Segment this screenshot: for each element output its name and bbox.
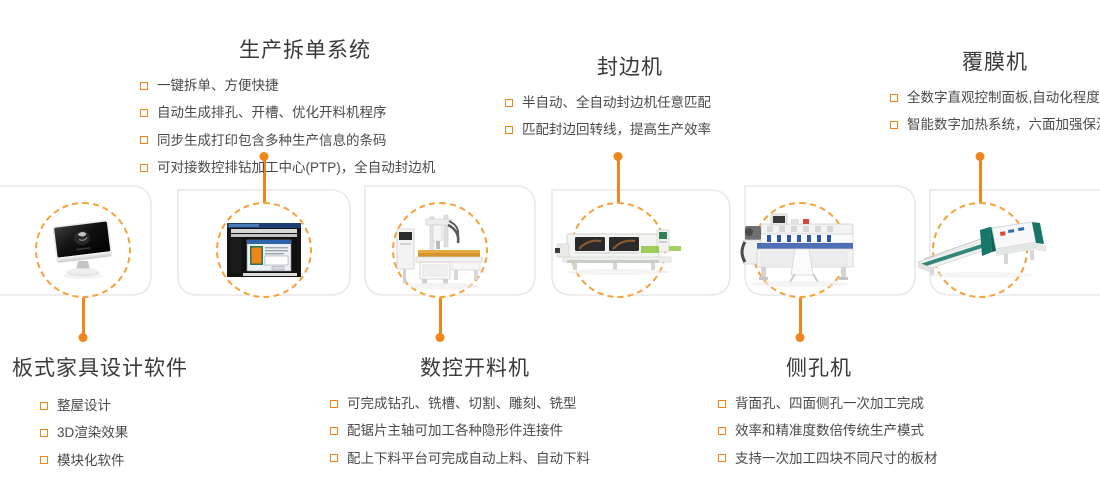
list-item-label: 全数字直观控制面板,自动化程度高 — [907, 90, 1100, 105]
block-title: 板式家具设计软件 — [12, 356, 212, 381]
list-item: 同步生成打印包含多种生产信息的条码 — [140, 127, 470, 154]
side-hole-machine-icon — [737, 210, 863, 290]
feature-list: 背面孔、四面侧孔一次加工完成 效率和精准度数倍传统生产模式 支持一次加工四块不同… — [718, 390, 998, 472]
list-item-label: 匹配封边回转线，提高生产效率 — [522, 122, 711, 137]
list-item-label: 配上下料平台可完成自动上料、自动下料 — [347, 451, 590, 466]
block-title: 封边机 — [505, 55, 755, 80]
list-item: 自动生成排孔、开槽、优化开料机程序 — [140, 99, 470, 126]
text-block-splitting-system: 生产拆单系统 一键拆单、方便快捷 自动生成排孔、开槽、优化开料机程序 同步生成打… — [140, 38, 470, 181]
list-item-label: 可对接数控排钻加工中心(PTP)，全自动封边机 — [157, 160, 435, 175]
text-block-cnc-cutting-machine: 数控开料机 可完成钻孔、铣槽、切割、雕刻、铣型 配锯片主轴可加工各种隐形件连接件… — [330, 356, 620, 472]
square-bullet-icon — [890, 121, 898, 129]
square-bullet-icon — [140, 82, 148, 90]
list-item: 效率和精准度数倍传统生产模式 — [718, 417, 998, 444]
square-bullet-icon — [330, 427, 338, 435]
feature-list: 可完成钻孔、铣槽、切割、雕刻、铣型 配锯片主轴可加工各种隐形件连接件 配上下料平… — [330, 390, 620, 472]
square-bullet-icon — [40, 429, 48, 437]
text-block-laminating-machine: 覆膜机 全数字直观控制面板,自动化程度高 智能数字加热系统，六面加强保温 — [890, 50, 1100, 139]
list-item: 智能数字加热系统，六面加强保温 — [890, 111, 1100, 138]
list-item: 半自动、全自动封边机任意匹配 — [505, 89, 755, 116]
list-item-label: 支持一次加工四块不同尺寸的板材 — [735, 451, 938, 466]
list-item-label: 效率和精准度数倍传统生产模式 — [735, 423, 924, 438]
square-bullet-icon — [40, 456, 48, 464]
square-bullet-icon — [505, 99, 513, 107]
list-item-label: 同步生成打印包含多种生产信息的条码 — [157, 133, 387, 148]
node-software-ui — [216, 202, 312, 298]
list-item-label: 自动生成排孔、开槽、优化开料机程序 — [157, 105, 387, 120]
list-item: 模块化软件 — [40, 447, 212, 474]
list-item: 可对接数控排钻加工中心(PTP)，全自动封边机 — [140, 154, 470, 181]
square-bullet-icon — [140, 164, 148, 172]
infographic-stage: 生产拆单系统 一键拆单、方便快捷 自动生成排孔、开槽、优化开料机程序 同步生成打… — [0, 0, 1100, 495]
node-edge-bander — [570, 202, 666, 298]
list-item: 匹配封边回转线，提高生产效率 — [505, 116, 755, 143]
imac-monitor-icon — [49, 220, 117, 280]
feature-list: 半自动、全自动封边机任意匹配 匹配封边回转线，提高生产效率 — [505, 89, 755, 144]
list-item-label: 背面孔、四面侧孔一次加工完成 — [735, 396, 924, 411]
text-block-side-hole-machine: 侧孔机 背面孔、四面侧孔一次加工完成 效率和精准度数倍传统生产模式 支持一次加工… — [718, 356, 998, 472]
feature-list: 全数字直观控制面板,自动化程度高 智能数字加热系统，六面加强保温 — [890, 84, 1100, 139]
square-bullet-icon — [718, 400, 726, 408]
text-block-design-software: 板式家具设计软件 整屋设计 3D渲染效果 模块化软件 — [12, 356, 212, 474]
square-bullet-icon — [330, 454, 338, 462]
block-title: 侧孔机 — [718, 356, 998, 381]
text-block-edge-banding-machine: 封边机 半自动、全自动封边机任意匹配 匹配封边回转线，提高生产效率 — [505, 55, 755, 144]
square-bullet-icon — [890, 94, 898, 102]
square-bullet-icon — [718, 454, 726, 462]
node-side-driller — [752, 202, 848, 298]
list-item-label: 3D渲染效果 — [57, 425, 128, 440]
list-item-label: 可完成钻孔、铣槽、切割、雕刻、铣型 — [347, 396, 577, 411]
list-item: 整屋设计 — [40, 392, 212, 419]
block-title: 数控开料机 — [330, 356, 620, 381]
cnc-router-icon — [392, 207, 488, 293]
block-title: 覆膜机 — [890, 50, 1100, 75]
feature-list: 一键拆单、方便快捷 自动生成排孔、开槽、优化开料机程序 同步生成打印包含多种生产… — [140, 72, 470, 181]
list-item-label: 模块化软件 — [57, 453, 125, 468]
stem-side-driller — [799, 298, 802, 338]
feature-list: 整屋设计 3D渲染效果 模块化软件 — [12, 392, 212, 474]
stem-edge-bander — [617, 156, 620, 202]
stem-cnc — [439, 298, 442, 338]
square-bullet-icon — [140, 136, 148, 144]
square-bullet-icon — [505, 126, 513, 134]
list-item: 3D渲染效果 — [40, 419, 212, 446]
square-bullet-icon — [140, 109, 148, 117]
stem-monitor — [82, 298, 85, 338]
block-title: 生产拆单系统 — [140, 38, 470, 63]
list-item-label: 整屋设计 — [57, 398, 111, 413]
laminating-machine-icon — [914, 218, 1046, 282]
list-item: 配上下料平台可完成自动上料、自动下料 — [330, 445, 620, 472]
node-cnc — [392, 202, 488, 298]
list-item-label: 半自动、全自动封边机任意匹配 — [522, 95, 711, 110]
list-item-label: 智能数字加热系统，六面加强保温 — [907, 117, 1100, 132]
software-screen-icon — [227, 223, 301, 277]
list-item-label: 配锯片主轴可加工各种隐形件连接件 — [347, 423, 563, 438]
square-bullet-icon — [40, 402, 48, 410]
list-item: 一键拆单、方便快捷 — [140, 72, 470, 99]
node-laminator — [932, 202, 1028, 298]
list-item: 配锯片主轴可加工各种隐形件连接件 — [330, 417, 620, 444]
square-bullet-icon — [330, 400, 338, 408]
list-item: 可完成钻孔、铣槽、切割、雕刻、铣型 — [330, 390, 620, 417]
stem-laminator — [979, 156, 982, 202]
list-item: 全数字直观控制面板,自动化程度高 — [890, 84, 1100, 111]
edge-banding-machine-icon — [553, 224, 683, 276]
list-item: 背面孔、四面侧孔一次加工完成 — [718, 390, 998, 417]
list-item: 支持一次加工四块不同尺寸的板材 — [718, 445, 998, 472]
list-item-label: 一键拆单、方便快捷 — [157, 78, 279, 93]
node-monitor — [35, 202, 131, 298]
square-bullet-icon — [718, 427, 726, 435]
